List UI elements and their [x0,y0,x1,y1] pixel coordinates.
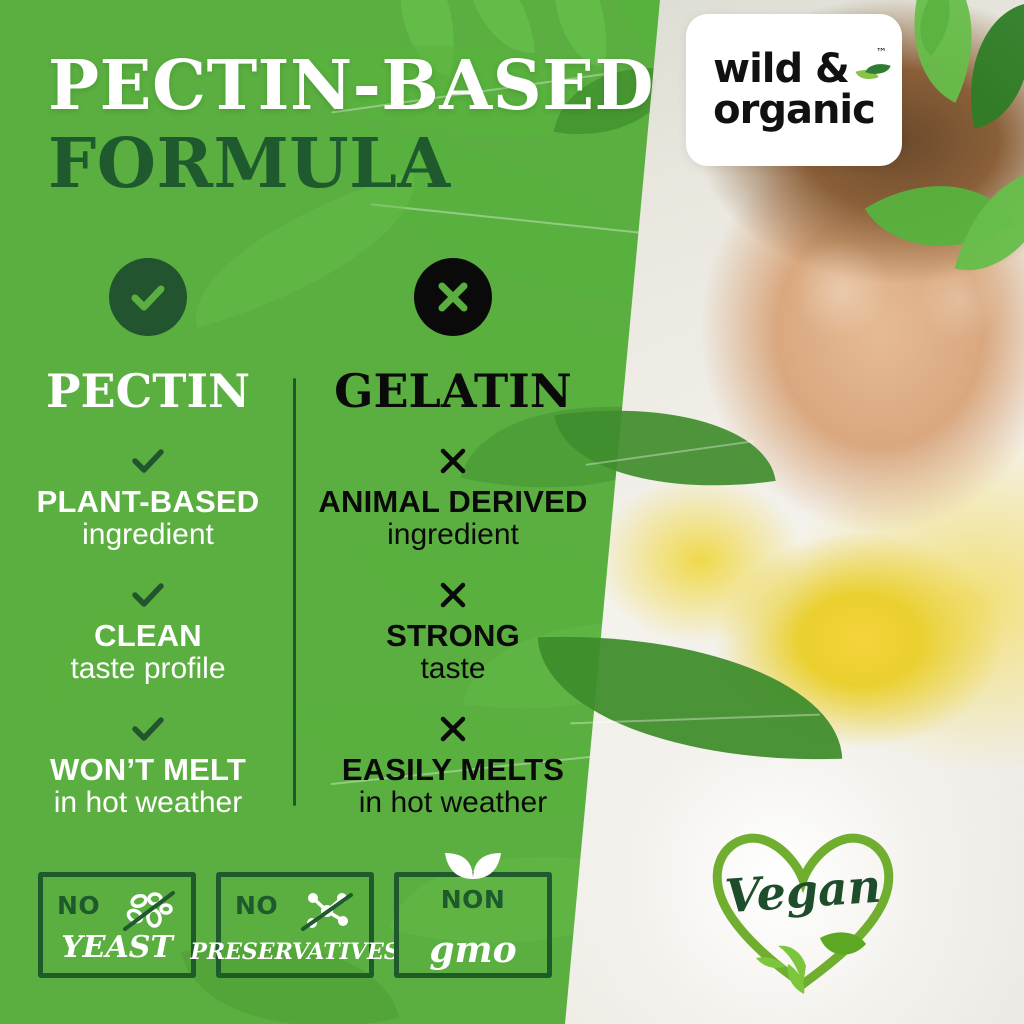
x-icon [308,578,598,612]
check-circle-icon [109,258,187,336]
wild-organic-logo-card[interactable]: wild & organic ™ [686,14,902,166]
feature-subline: taste [308,652,598,686]
badge-bottom-text: PRESERVATIVES [190,939,399,965]
leaf-vein [371,203,650,234]
column-title-gelatin: GELATIN [308,364,598,418]
x-circle-icon [414,258,492,336]
badge-bottom-text: YEAST [61,930,173,965]
column-divider [293,378,296,806]
x-icon [308,712,598,746]
badge-top-text: NO [235,891,278,920]
x-icon [308,444,598,478]
feature-subline: ingredient [308,518,598,552]
feature-item: WON’T MELT in hot weather [12,712,284,820]
logo-lockup: wild & organic ™ [713,50,875,130]
feature-item: CLEAN taste profile [12,578,284,686]
feature-item: PLANT-BASED ingredient [12,444,284,552]
badge-bottom-text: gmo [429,929,516,971]
check-icon [12,712,284,746]
check-icon [12,578,284,612]
vegan-badge: Vegan [700,818,906,1000]
badge-non-gmo: NON gmo [394,872,552,978]
feature-item: EASILY MELTS in hot weather [308,712,598,820]
headline: PECTIN-BASED FORMULA [48,52,688,198]
column-title-pectin: PECTIN [12,364,284,418]
leaf-icon [443,849,503,881]
feature-item: STRONG taste [308,578,598,686]
feature-headline: ANIMAL DERIVED [308,486,598,518]
headline-line-2: FORMULA [48,130,688,198]
feature-headline: WON’T MELT [12,754,284,786]
check-icon [12,444,284,478]
badge-top-text: NO [57,891,100,920]
column-gelatin: GELATIN ANIMAL DERIVED ingredient STRONG… [308,258,598,819]
feature-subline: taste profile [12,652,284,686]
feature-subline: ingredient [12,518,284,552]
logo-line-2: organic [713,91,875,130]
pectin-vs-gelatin-infographic: PECTIN-BASED FORMULA wild & organic ™ PE… [0,0,1024,1024]
certification-badges: NO YEAST NO [38,872,552,978]
badge-no-yeast: NO YEAST [38,872,196,978]
feature-headline: PLANT-BASED [12,486,284,518]
logo-line-1: wild & [713,50,875,89]
badge-no-preservatives: NO PRESERVATIVES [216,872,374,978]
feature-headline: CLEAN [12,620,284,652]
headline-line-1: PECTIN-BASED [48,52,688,120]
feature-subline: in hot weather [12,786,284,820]
badge-top-text: NON [441,885,506,914]
feature-item: ANIMAL DERIVED ingredient [308,444,598,552]
yeast-crossed-out-icon [121,889,177,935]
molecule-crossed-out-icon [299,889,355,935]
feature-subline: in hot weather [308,786,598,820]
trademark-symbol: ™ [876,46,887,59]
feature-headline: STRONG [308,620,598,652]
vegan-label: Vegan [723,859,883,924]
column-pectin: PECTIN PLANT-BASED ingredient CLEAN tast… [12,258,284,819]
feature-headline: EASILY MELTS [308,754,598,786]
